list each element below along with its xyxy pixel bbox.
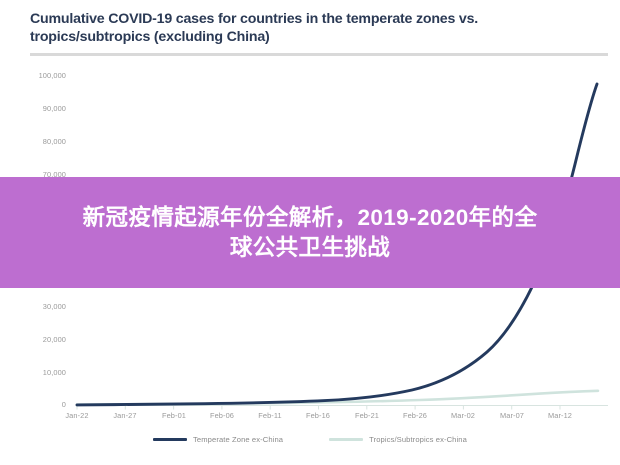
x-axis-tick-label: Feb-16 [293,411,343,420]
x-axis-tick-label: Jan-22 [52,411,102,420]
x-axis-tick-label: Mar-12 [535,411,585,420]
x-tick-marks [77,406,560,410]
legend-label: Temperate Zone ex-China [193,435,283,444]
y-axis-tick-label: 0 [22,400,66,409]
y-axis-tick-label: 90,000 [22,104,66,113]
x-axis-tick-label: Mar-07 [487,411,537,420]
chart-legend: Temperate Zone ex-China Tropics/Subtropi… [0,435,620,444]
y-axis-tick-label: 30,000 [22,302,66,311]
overlay-caption-text: 新冠疫情起源年份全解析，2019-2020年的全球公共卫生挑战 [75,203,545,262]
x-axis-tick-label: Feb-01 [149,411,199,420]
x-axis-tick-label: Feb-26 [390,411,440,420]
y-axis-tick-label: 100,000 [22,71,66,80]
legend-swatch-icon [329,438,363,441]
chart-figure: Cumulative COVID-19 cases for countries … [0,0,620,465]
y-axis-tick-label: 80,000 [22,137,66,146]
x-axis-tick-label: Feb-11 [245,411,295,420]
x-axis-tick-label: Feb-06 [197,411,247,420]
legend-item-tropics-subtropics[interactable]: Tropics/Subtropics ex-China [329,435,467,444]
legend-label: Tropics/Subtropics ex-China [369,435,467,444]
overlay-caption-banner: 新冠疫情起源年份全解析，2019-2020年的全球公共卫生挑战 [0,177,620,288]
y-axis-tick-label: 10,000 [22,368,66,377]
series-line-tropics-subtropics [77,391,598,405]
legend-swatch-icon [153,438,187,441]
y-axis-tick-label: 20,000 [22,335,66,344]
x-axis-tick-label: Mar-02 [438,411,488,420]
x-axis-tick-label: Feb-21 [342,411,392,420]
x-axis-tick-label: Jan-27 [100,411,150,420]
legend-item-temperate-zone[interactable]: Temperate Zone ex-China [153,435,283,444]
